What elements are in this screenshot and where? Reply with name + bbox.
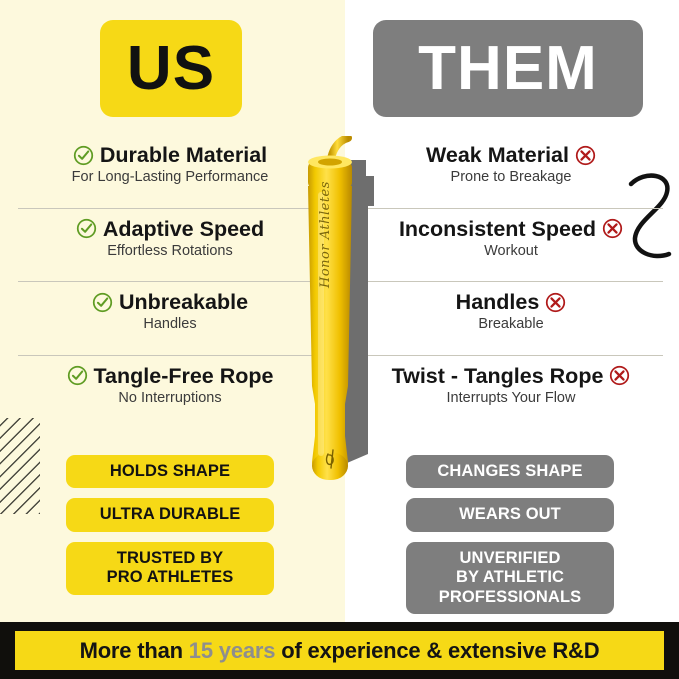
them-pill-0: CHANGES SHAPE (406, 455, 614, 488)
them-feature-sub: Breakable (352, 316, 670, 333)
them-feature-0: Weak Material Prone to Breakage (352, 143, 670, 186)
check-circle-icon (76, 218, 97, 239)
them-feature-title: Twist - Tangles Rope (392, 364, 604, 388)
product-brand-script: Honor Athletes (318, 181, 333, 288)
us-feature-3: Tangle-Free Rope No Interruptions (10, 364, 330, 407)
them-feature-title: Inconsistent Speed (399, 217, 596, 241)
us-feature-title-row: Tangle-Free Rope (10, 364, 330, 388)
them-pill-list: CHANGES SHAPE WEARS OUT UNVERIFIEDBY ATH… (406, 455, 614, 624)
them-header-label: THEM (418, 38, 598, 100)
diagonal-hatch-decoration (0, 418, 40, 514)
us-feature-sub: Effortless Rotations (10, 243, 330, 260)
them-feature-sub: Interrupts Your Flow (352, 390, 670, 407)
them-feature-title-row: Twist - Tangles Rope (352, 364, 670, 388)
them-feature-sub: Prone to Breakage (352, 169, 670, 186)
them-pill-1: WEARS OUT (406, 498, 614, 531)
them-feature-title: Weak Material (426, 143, 569, 167)
them-feature-3: Twist - Tangles Rope Interrupts Your Flo… (352, 364, 670, 407)
us-pill-list: HOLDS SHAPE ULTRA DURABLE TRUSTED BYPRO … (66, 455, 274, 605)
us-feature-2: Unbreakable Handles (10, 290, 330, 333)
comparison-infographic: US THEM Durable Material For Long-Lastin… (0, 0, 679, 679)
banner-accent: 15 years (189, 638, 276, 663)
us-feature-title: Durable Material (100, 143, 267, 167)
banner-prefix: More than (80, 638, 189, 663)
check-circle-icon (73, 145, 94, 166)
us-feature-title: Tangle-Free Rope (94, 364, 274, 388)
them-feature-sub: Workout (352, 243, 670, 260)
us-pill-2: TRUSTED BYPRO ATHLETES (66, 542, 274, 595)
them-feature-title-row: Weak Material (352, 143, 670, 167)
them-feature-title-row: Handles (352, 290, 670, 314)
us-feature-title: Adaptive Speed (103, 217, 264, 241)
bottom-banner-frame: More than 15 years of experience & exten… (0, 622, 679, 679)
us-feature-title-row: Unbreakable (10, 290, 330, 314)
us-feature-sub: Handles (10, 316, 330, 333)
us-header-badge: US (100, 20, 242, 117)
them-feature-2: Handles Breakable (352, 290, 670, 333)
them-pill-2: UNVERIFIEDBY ATHLETICPROFESSIONALS (406, 542, 614, 614)
product-image-jump-rope-handle (288, 136, 398, 488)
cross-circle-icon (609, 365, 630, 386)
them-header-badge: THEM (373, 20, 643, 117)
us-feature-title-row: Durable Material (10, 143, 330, 167)
check-circle-icon (67, 365, 88, 386)
bottom-banner: More than 15 years of experience & exten… (15, 631, 664, 670)
them-feature-title-row: Inconsistent Speed (352, 217, 670, 241)
us-feature-title: Unbreakable (119, 290, 248, 314)
us-feature-sub: No Interruptions (10, 390, 330, 407)
us-feature-0: Durable Material For Long-Lasting Perfor… (10, 143, 330, 186)
cross-circle-icon (575, 145, 596, 166)
cross-circle-icon (545, 292, 566, 313)
us-feature-sub: For Long-Lasting Performance (10, 169, 330, 186)
us-header-label: US (127, 38, 215, 100)
them-feature-1: Inconsistent Speed Workout (352, 217, 670, 260)
us-feature-1: Adaptive Speed Effortless Rotations (10, 217, 330, 260)
us-pill-0: HOLDS SHAPE (66, 455, 274, 488)
banner-suffix: of experience & extensive R&D (275, 638, 599, 663)
us-pill-1: ULTRA DURABLE (66, 498, 274, 531)
them-feature-title: Handles (456, 290, 540, 314)
us-feature-title-row: Adaptive Speed (10, 217, 330, 241)
cross-circle-icon (602, 218, 623, 239)
bottom-banner-text: More than 15 years of experience & exten… (80, 638, 600, 664)
check-circle-icon (92, 292, 113, 313)
